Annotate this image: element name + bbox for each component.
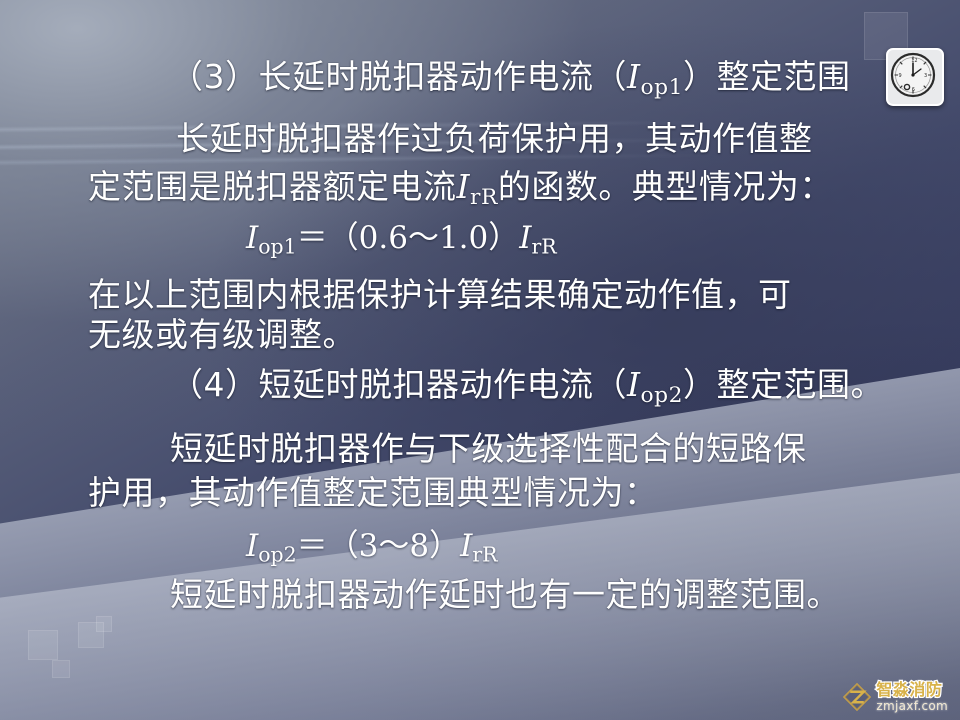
formula-1-range-low: 0.6 — [359, 220, 408, 256]
paragraph-2-line-2: 无级或有级调整。 — [88, 308, 356, 356]
formula-1-rhs-symbol: I — [519, 220, 531, 256]
heading-3-subscript: op1 — [641, 75, 683, 100]
heading-long-delay-release: （3）长延时脱扣器动作电流（Iop1）整定范围 — [170, 50, 850, 100]
paragraph-1-line-1: 长延时脱扣器作过负荷保护用，其动作值整 — [176, 112, 813, 160]
paragraph-1-line-2: 定范围是脱扣器额定电流IrR的函数。典型情况为： — [88, 160, 833, 210]
formula-1-lhs-symbol: I — [246, 220, 258, 256]
formula-2-range-tilde: ～ — [378, 528, 409, 564]
paragraph-1-line-2-after: 的函数。典型情况为： — [498, 167, 833, 206]
paragraph-3-line-2: 护用，其动作值整定范围典型情况为： — [88, 466, 658, 514]
formula-short-delay-current: Iop2＝（3～8）IrR — [246, 520, 498, 567]
formula-2-rhs-symbol: I — [460, 528, 472, 564]
paragraph-1-subscript: rR — [470, 185, 498, 210]
formula-1-range-close: ） — [488, 220, 519, 256]
heading-4-text-before: （4）短延时脱扣器动作电流（ — [170, 365, 627, 404]
paragraph-4: 短延时脱扣器动作延时也有一定的调整范围。 — [170, 568, 840, 616]
clock-icon: 12 3 6 9 — [886, 48, 944, 106]
heading-3-symbol: I — [627, 57, 641, 96]
heading-short-delay-release: （4）短延时脱扣器动作电流（Iop2）整定范围。 — [170, 358, 884, 408]
formula-1-range-high: 1.0 — [439, 220, 488, 256]
formula-2-range-close: ） — [429, 528, 460, 564]
svg-text:3: 3 — [924, 73, 927, 79]
paragraph-1-line-2-before: 定范围是脱扣器额定电流 — [88, 167, 457, 206]
formula-2-range-low: 3 — [359, 528, 379, 564]
presentation-slide: （3）长延时脱扣器动作电流（Iop1）整定范围 长延时脱扣器作过负荷保护用，其动… — [0, 0, 960, 720]
formula-2-range-open: （ — [328, 528, 359, 564]
formula-2-lhs-symbol: I — [246, 528, 258, 564]
heading-3-text-before: （3）长延时脱扣器动作电流（ — [170, 57, 627, 96]
heading-4-symbol: I — [627, 365, 641, 404]
svg-text:6: 6 — [912, 87, 915, 93]
svg-text:12: 12 — [911, 58, 917, 64]
formula-2-equals: ＝ — [297, 528, 328, 564]
formula-2-rhs-subscript: rR — [472, 543, 497, 567]
slide-content: （3）长延时脱扣器动作电流（Iop1）整定范围 长延时脱扣器作过负荷保护用，其动… — [0, 0, 960, 720]
heading-4-subscript: op2 — [641, 383, 683, 408]
svg-text:9: 9 — [899, 73, 902, 79]
formula-1-lhs-subscript: op1 — [258, 235, 296, 259]
formula-2-range-high: 8 — [409, 528, 429, 564]
formula-1-range-open: （ — [328, 220, 359, 256]
formula-1-equals: ＝ — [297, 220, 328, 256]
heading-4-text-after: ）整定范围。 — [683, 365, 884, 404]
formula-2-lhs-subscript: op2 — [258, 543, 296, 567]
heading-3-text-after: ）整定范围 — [683, 57, 851, 96]
formula-long-delay-current: Iop1＝（0.6～1.0）IrR — [246, 212, 557, 259]
paragraph-3-line-1: 短延时脱扣器作与下级选择性配合的短路保 — [170, 422, 807, 470]
formula-1-rhs-subscript: rR — [532, 235, 557, 259]
formula-1-range-tilde: ～ — [408, 220, 439, 256]
paragraph-1-symbol: I — [457, 167, 471, 206]
